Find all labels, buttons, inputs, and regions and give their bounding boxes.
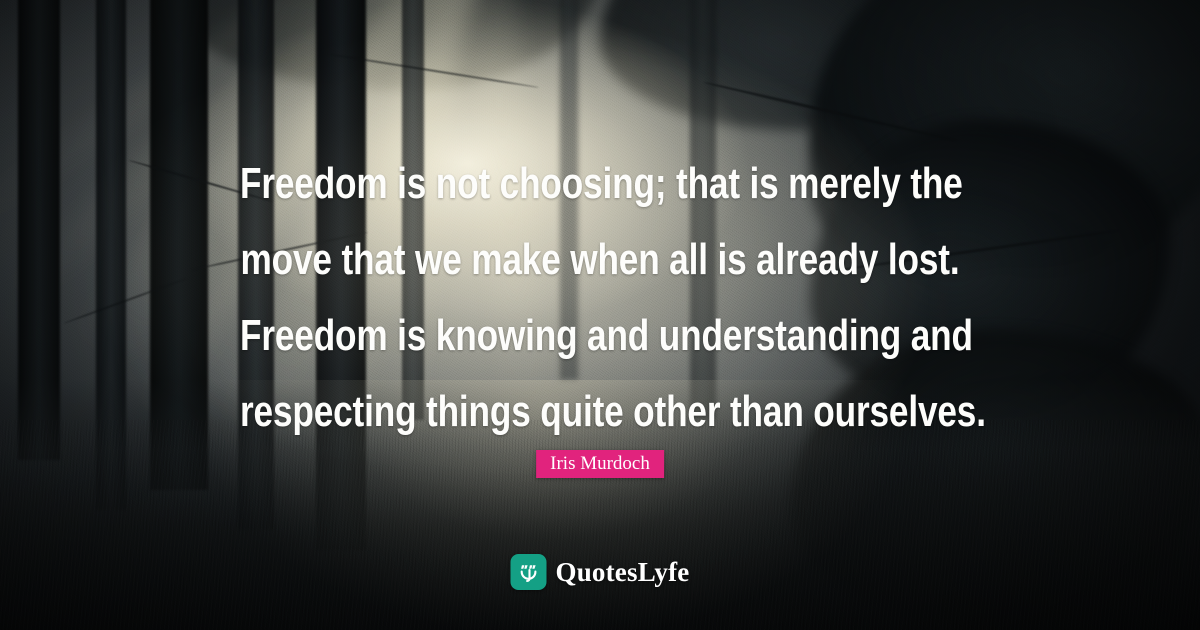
quote-line: Freedom is knowing and understanding and	[240, 298, 960, 374]
brand-logo[interactable]: QuotesLyfe	[511, 554, 690, 590]
quote-line: Freedom is not choosing; that is merely …	[240, 146, 960, 222]
brand-name: QuotesLyfe	[556, 557, 690, 588]
quote-text: Freedom is not choosing; that is merely …	[0, 146, 1200, 450]
quote-card: Freedom is not choosing; that is merely …	[0, 0, 1200, 630]
quote-smiley-icon	[511, 554, 547, 590]
card-content: Freedom is not choosing; that is merely …	[0, 0, 1200, 630]
quote-line: move that we make when all is already lo…	[240, 222, 960, 298]
quote-line: respecting things quite other than ourse…	[240, 374, 960, 450]
author-badge[interactable]: Iris Murdoch	[536, 450, 664, 478]
